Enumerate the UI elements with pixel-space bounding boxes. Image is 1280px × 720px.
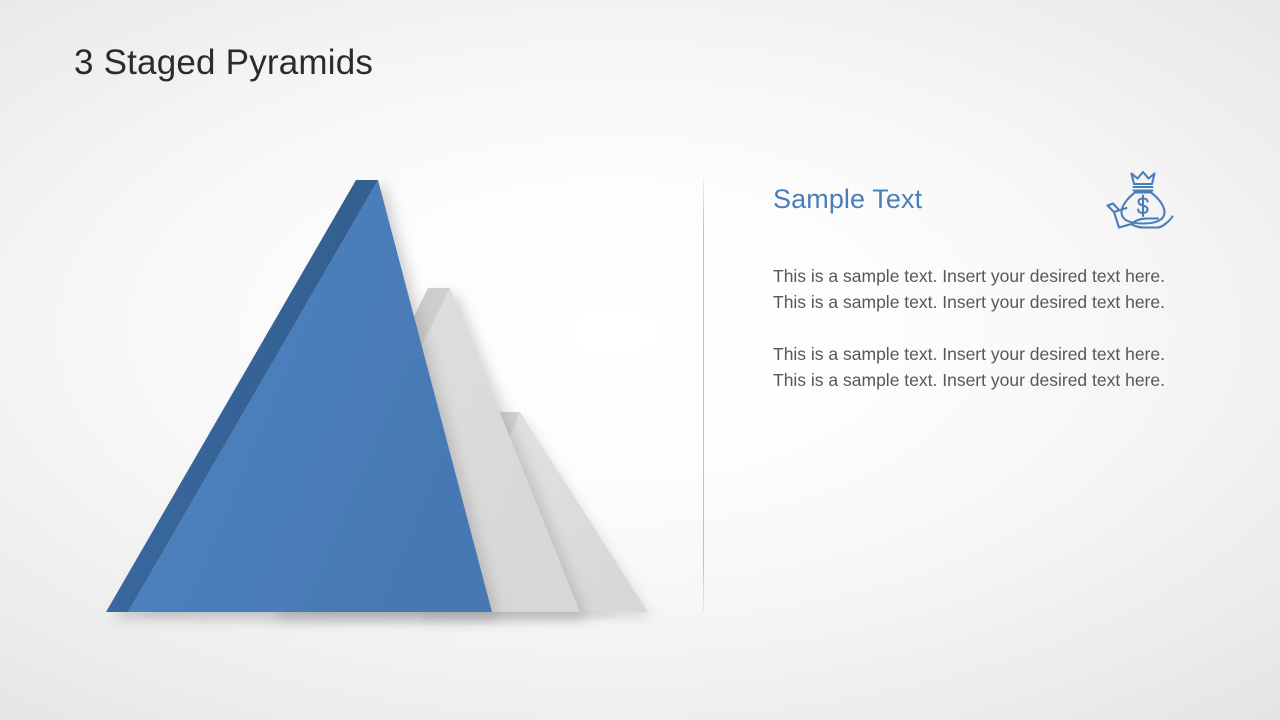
panel-paragraph: This is a sample text. Insert your desir… <box>773 264 1165 315</box>
pyramid-stage-1[interactable] <box>106 180 492 612</box>
content-divider <box>703 178 704 612</box>
money-bag-crown <box>1132 172 1155 184</box>
slide-canvas: 3 Staged Pyramids <box>0 0 1280 720</box>
page-title: 3 Staged Pyramids <box>74 43 373 83</box>
panel-paragraph: This is a sample text. Insert your desir… <box>773 342 1165 393</box>
money-bag-in-hand-icon <box>1102 170 1180 232</box>
pyramid-diagram[interactable] <box>80 160 680 640</box>
